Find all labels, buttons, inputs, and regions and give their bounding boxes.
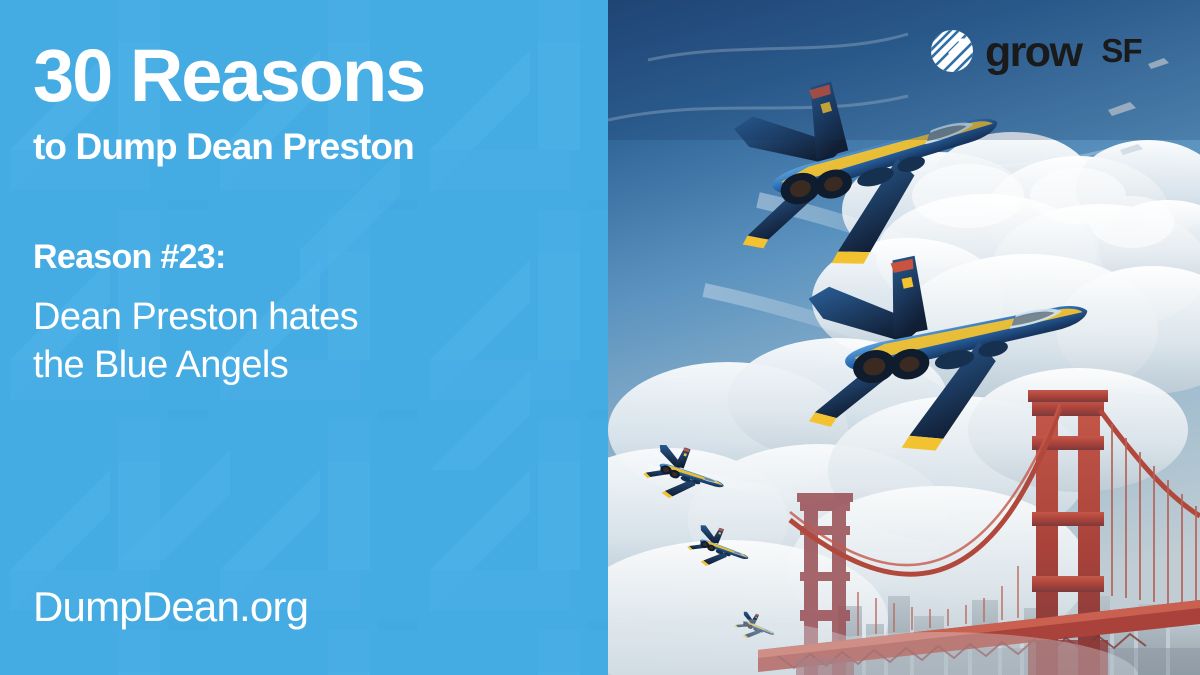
reason-block: Reason #23: Dean Preston hates the Blue … xyxy=(33,239,578,389)
left-content: 30 Reasons to Dump Dean Preston Reason #… xyxy=(0,0,608,675)
reason-body: Dean Preston hates the Blue Angels xyxy=(33,293,578,390)
illustration-panel xyxy=(608,0,1200,675)
growsf-logo[interactable]: grow SF xyxy=(930,28,1142,74)
page-title: 30 Reasons xyxy=(33,40,578,113)
logo-text-sf: SF xyxy=(1101,34,1142,67)
reason-body-line-1: Dean Preston hates xyxy=(33,293,578,341)
page-subtitle: to Dump Dean Preston xyxy=(33,127,578,168)
left-text-panel: 30 Reasons to Dump Dean Preston Reason #… xyxy=(0,0,608,675)
poster-canvas: 30 Reasons to Dump Dean Preston Reason #… xyxy=(0,0,1200,675)
logo-text-grow: grow xyxy=(985,31,1081,74)
reason-body-line-2: the Blue Angels xyxy=(33,341,578,389)
growsf-arrow-circle-icon xyxy=(930,29,974,73)
website-url[interactable]: DumpDean.org xyxy=(33,583,578,641)
reason-number-label: Reason #23: xyxy=(33,239,578,276)
